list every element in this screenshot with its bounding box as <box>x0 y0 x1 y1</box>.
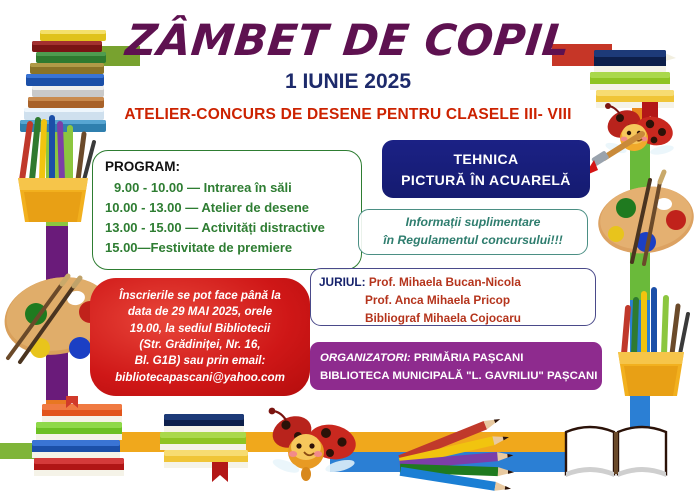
technique-value: PICTURĂ ÎN ACUARELĂ <box>401 172 571 188</box>
organizers-row-1: ORGANIZATORI: PRIMĂRIA PAȘCANI <box>320 349 592 367</box>
jury-label: JURIUL: <box>319 275 366 289</box>
page-title: ZÂMBET DE COPIL <box>0 16 696 66</box>
pencil-cup-left-icon <box>4 118 100 238</box>
jury-row-1: JURIUL: Prof. Mihaela Bucan-Nicola <box>319 274 587 292</box>
program-item-1: 9.00 - 10.00 — Intrarea în săli <box>105 178 351 198</box>
registration-line-5: Bl. G1B) sau prin email: <box>115 353 285 369</box>
program-item-3: 13.00 - 15.00 — Activități distractive <box>105 218 351 238</box>
jury-row-2: Prof. Anca Mihaela Pricop <box>319 292 587 310</box>
organizers-row-2: BIBLIOTECA MUNICIPALĂ "L. GAVRILIU" PAȘC… <box>320 367 592 385</box>
program-box: PROGRAM: 9.00 - 10.00 — Intrarea în săli… <box>92 150 362 270</box>
registration-line-2: data de 29 MAI 2025, orele <box>115 304 285 320</box>
info-line-2: în Regulamentul concursului!!! <box>383 232 562 250</box>
jury-box: JURIUL: Prof. Mihaela Bucan-Nicola Prof.… <box>310 268 596 326</box>
jury-member-2: Prof. Anca Mihaela Pricop <box>365 293 510 307</box>
program-item-4: 15.00—Festivitate de premiere <box>105 238 351 258</box>
technique-box: TEHNICA PICTURĂ ÎN ACUARELĂ <box>382 140 590 198</box>
poster-canvas: ZÂMBET DE COPIL 1 IUNIE 2025 ATELIER-CON… <box>0 0 696 492</box>
additional-info-box: Informații suplimentare în Regulamentul … <box>358 209 588 255</box>
open-book-icon <box>560 420 672 484</box>
registration-email[interactable]: bibliotecapascani@yahoo.com <box>115 370 285 386</box>
organizer-1: PRIMĂRIA PAȘCANI <box>414 352 523 364</box>
program-item-2: 10.00 - 13.00 — Atelier de desene <box>105 198 351 218</box>
program-heading: PROGRAM: <box>105 159 351 174</box>
ladybug-bottom-center-icon <box>262 408 366 488</box>
pencil-cup-right-icon <box>608 288 696 406</box>
event-tagline: ATELIER-CONCURS DE DESENE PENTRU CLASELE… <box>0 106 696 124</box>
technique-heading: TEHNICA <box>453 151 518 167</box>
registration-box: Înscrierile se pot face până la data de … <box>90 278 310 396</box>
jury-row-3: Bibliograf Mihaela Cojocaru <box>319 310 587 328</box>
event-date: 1 IUNIE 2025 <box>0 70 696 94</box>
book-stack-bottom-left-icon <box>20 396 140 492</box>
registration-text: Înscrierile se pot face până la data de … <box>115 288 285 387</box>
registration-line-1: Înscrierile se pot face până la <box>115 288 285 304</box>
info-line-1: Informații suplimentare <box>406 214 541 232</box>
registration-line-4: (Str. Grădiniței, Nr. 16, <box>115 337 285 353</box>
colored-pencils-fan-icon <box>398 406 538 486</box>
registration-line-3: 19.00, la sediul Bibliotecii <box>115 321 285 337</box>
jury-member-3: Bibliograf Mihaela Cojocaru <box>365 311 521 325</box>
organizers-box: ORGANIZATORI: PRIMĂRIA PAȘCANI BIBLIOTEC… <box>310 342 602 390</box>
jury-member-1: Prof. Mihaela Bucan-Nicola <box>369 275 521 289</box>
organizers-label: ORGANIZATORI: <box>320 352 411 364</box>
book-stack-bottom-center-icon <box>150 408 260 492</box>
